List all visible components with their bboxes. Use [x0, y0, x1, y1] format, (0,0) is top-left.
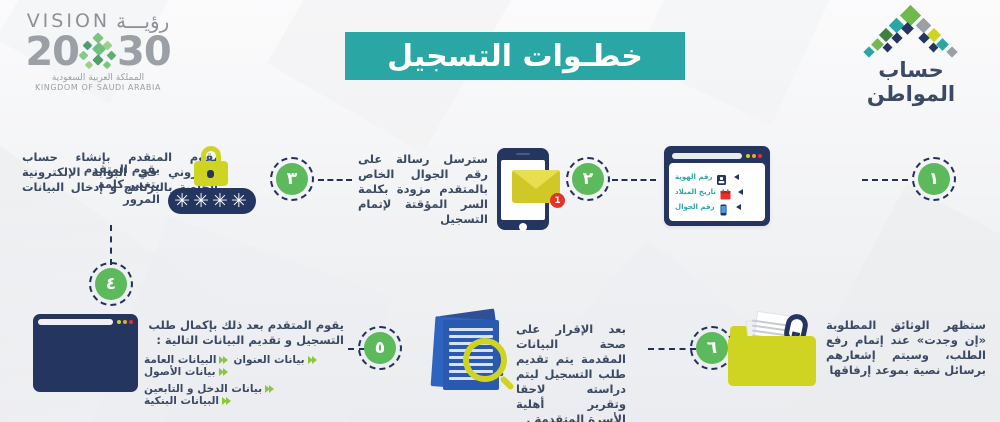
step-4-bullet-list: بيانات العنوان البيانات العامة بيانات ال… [144, 354, 344, 407]
connector-2-icon [612, 179, 656, 181]
step-1-badge: ١ [912, 157, 956, 201]
chevron-bullet-icon [265, 385, 274, 394]
magnifier-glass [463, 338, 507, 382]
step-6-text: ستظهر الوثائق المطلوبة «إن وجدت» عند إتم… [826, 318, 986, 378]
step-5-badge: ٥ [358, 326, 402, 370]
chevron-bullet-icon [308, 356, 317, 365]
list-item: بيانات العنوان [233, 354, 316, 366]
padlock-icon [192, 146, 230, 186]
background-shape [784, 184, 1000, 422]
step-1-number: ١ [929, 171, 939, 188]
connector-3-4 [110, 225, 112, 265]
chevron-bullet-icon [222, 397, 231, 406]
browser-url-bar [672, 153, 742, 159]
browser-screen: رقم الهوية تاريخ الميلاد رقم الجوال [669, 163, 765, 221]
list-item-label: بيانات العنوان [233, 354, 304, 366]
step-4-badge: ٤ [89, 262, 133, 306]
list-item-label: البيانات البنكية [144, 395, 219, 407]
step-5-number: ٥ [375, 340, 385, 357]
step-2-number: ٢ [583, 171, 593, 188]
badge-disc: ٥ [364, 332, 396, 364]
step-3-badge: ٣ [270, 157, 314, 201]
padlock-keyhole [207, 170, 214, 178]
step-5-text: بعد الإقرار على صحة البيانات المقدمة يتم… [516, 322, 626, 422]
form-window-dots [117, 320, 133, 324]
form-url-bar [38, 319, 113, 325]
vision-logo-digits-right: 30 [117, 33, 171, 71]
field-label-id: رقم الهوية [675, 173, 712, 181]
connector-2-3 [318, 179, 352, 181]
step-4-text: يقوم المتقدم بعد ذلك بإكمال طلب التسجيل … [144, 318, 344, 348]
citizen-account-name: حساب المواطن [836, 58, 986, 106]
browser-window-icon: رقم الهوية تاريخ الميلاد رقم الجوال [664, 146, 770, 226]
arrow-icon [733, 203, 741, 211]
field-label-mobile: رقم الجوال [675, 203, 714, 211]
field-row-birthdate: تاريخ الميلاد [675, 186, 759, 198]
list-item: البيانات العامة [144, 354, 228, 366]
badge-disc: ٣ [276, 163, 308, 195]
mosaic-triangle-icon [865, 8, 957, 56]
chevron-bullet-icon [219, 356, 228, 365]
field-row-id: رقم الهوية [675, 171, 759, 183]
password-field-icon: ✳✳✳✳ [168, 188, 256, 214]
arrow-icon [731, 173, 739, 181]
vision-logo-digits-left: 20 [25, 33, 79, 71]
vision-emblem-icon [80, 34, 116, 70]
mobile-phone-icon [718, 201, 729, 213]
bullet-row: البيانات البنكية [144, 395, 344, 407]
folder-attachment-icon [728, 312, 816, 394]
arrow-icon [735, 188, 743, 196]
list-item-label: بيانات الأصول [144, 366, 216, 378]
vision-logo-subtitle-en: KINGDOM OF SAUDI ARABIA [18, 83, 178, 92]
calendar-icon [720, 186, 731, 198]
badge-disc: ٦ [696, 332, 728, 364]
step-3-text: يقوم المتقدم بتغيير كلمة المرور [60, 162, 160, 207]
list-item: بيانات الدخل و التابعين [144, 383, 274, 395]
list-item-label: البيانات العامة [144, 354, 216, 366]
chevron-bullet-icon [219, 368, 228, 377]
page-title: خطـوات التسجيل [387, 39, 643, 74]
magnifier-handle [499, 375, 515, 391]
step-2-text: سترسل رسالة على رقم الجوال الخاص بالمتقد… [358, 152, 488, 227]
citizen-account-logo: حساب المواطن [836, 8, 986, 104]
bullet-row: بيانات الأصول بيانات الدخل و التابعين [144, 366, 344, 395]
message-count-badge: 1 [550, 193, 565, 208]
profile-form-icon [33, 314, 138, 392]
id-card-icon [716, 171, 727, 183]
vision-2030-logo: VISION رؤيـــة 20 30 المملكة العربية الس… [18, 8, 178, 104]
browser-title-bar [669, 151, 765, 163]
badge-disc: ١ [918, 163, 950, 195]
phone-speaker [516, 153, 530, 155]
page-title-banner: خطـوات التسجيل [345, 32, 685, 80]
envelope-flap [512, 170, 560, 189]
phone-home-button [519, 223, 527, 231]
bullet-row: بيانات العنوان البيانات العامة [144, 354, 344, 366]
folder-body [728, 336, 816, 386]
step-4-number: ٤ [106, 276, 116, 293]
connector-5-6 [648, 348, 696, 350]
field-label-birthdate: تاريخ الميلاد [675, 188, 716, 196]
password-mask: ✳✳✳✳ [174, 196, 250, 206]
form-title-bar [38, 319, 133, 325]
connector-1-2 [862, 179, 908, 181]
list-item: البيانات البنكية [144, 395, 231, 407]
envelope-icon: 1 [512, 170, 560, 203]
step-2-badge: ٢ [566, 157, 610, 201]
list-item: بيانات الأصول [144, 366, 228, 378]
infographic-canvas: VISION رؤيـــة 20 30 المملكة العربية الس… [0, 0, 1000, 422]
step-3-number: ٣ [287, 171, 297, 188]
documents-magnifier-icon [425, 310, 515, 396]
field-row-mobile: رقم الجوال [675, 201, 759, 213]
magnifier-icon [463, 338, 507, 382]
step-6-number: ٦ [707, 340, 717, 357]
badge-disc: ٤ [95, 268, 127, 300]
vision-logo-year: 20 30 [18, 32, 178, 72]
badge-disc: ٢ [572, 163, 604, 195]
browser-window-dots [746, 154, 762, 158]
list-item-label: بيانات الدخل و التابعين [144, 383, 262, 395]
